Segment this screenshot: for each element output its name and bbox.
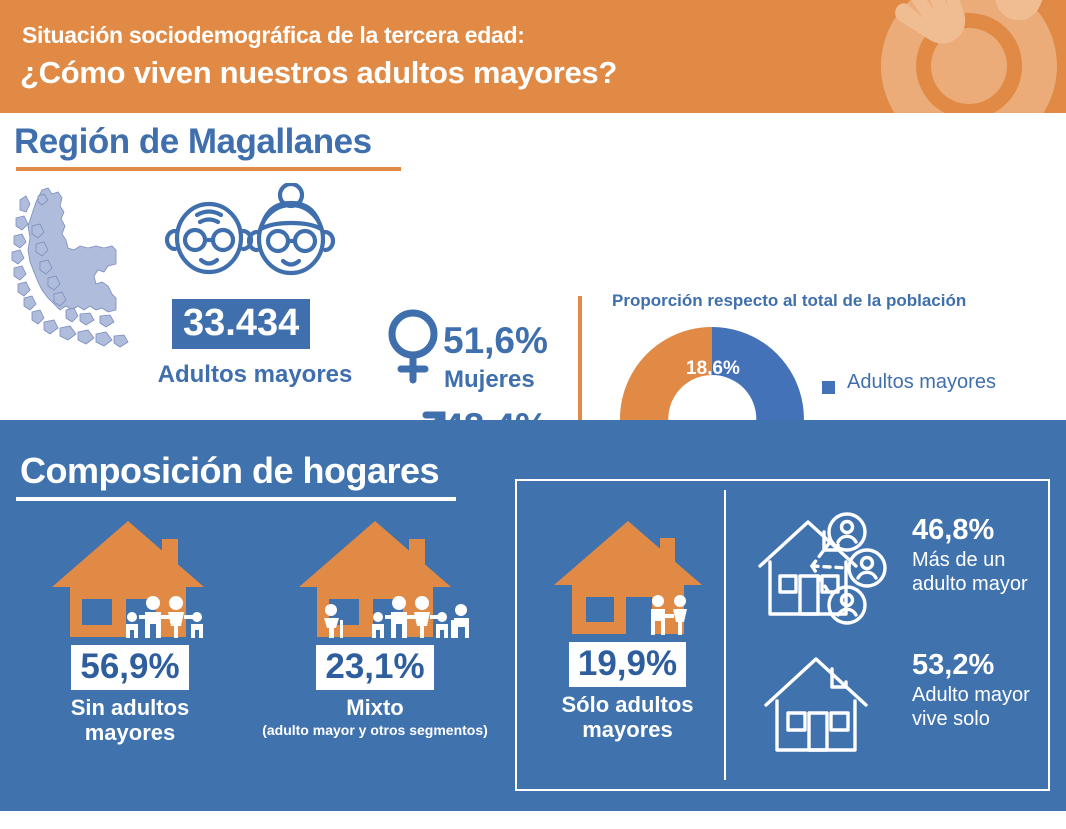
households-title: Composición de hogares [20,450,439,492]
elderly-couple-icon [155,183,345,298]
house-outline-icon [752,645,902,760]
elderly-total-value: 33.434 [172,299,310,349]
region-title: Región de Magallanes [14,122,372,162]
detail-row-mas-de-un: 46,8% Más de unadulto mayor [752,510,1042,630]
households-title-underline [16,497,456,501]
female-label: Mujeres [444,366,535,394]
household-pct-sin-adultos: 56,9% [71,645,188,690]
header-banner: Situación sociodemográfica de la tercera… [0,0,1066,113]
house-elderly-couple-icon [542,515,714,637]
elderly-total-label: Adultos mayores [140,361,370,389]
legend-label-adultos-mayores: Adultos mayores [847,371,996,394]
household-label-solo-adultos: Sólo adultosmayores [530,693,725,742]
house-multiple-elderly-icon [752,510,902,630]
region-section: Región de Magallanes [0,113,1066,420]
donut-chart-title: Proporción respecto al total de la pobla… [612,291,966,311]
household-card-solo-adultos: 19,9% Sólo adultosmayores [530,515,725,742]
house-family-no-elderly-icon [40,515,220,640]
detail-label-mas-de-un: Más de unadulto mayor [912,548,1042,597]
magallanes-region-map-icon [8,186,143,351]
detail-label-vive-solo: Adulto mayorvive solo [912,683,1042,732]
bottom-white-strip [0,811,1066,829]
pie-label-adultos-mayores: 18,6% [686,358,740,380]
detail-pct-mas-de-un: 46,8% [912,516,1042,545]
household-pct-mixto: 23,1% [316,645,433,690]
detail-row-vive-solo: 53,2% Adulto mayorvive solo [752,645,1042,765]
household-pct-solo-adultos: 19,9% [569,642,686,687]
household-sublabel-mixto: (adulto mayor y otros segmentos) [255,722,495,738]
legend-item-adultos-mayores: Adultos mayores [822,371,1062,425]
households-section: Composición de hogares [0,420,1066,811]
hands-circle-logo-icon [854,0,1066,113]
legend-swatch-adultos-mayores [822,381,835,394]
header-title: ¿Cómo viven nuestros adultos mayores? [20,55,617,91]
house-mixed-family-icon [275,515,475,640]
infographic-page: Situación sociodemográfica de la tercera… [0,0,1066,829]
household-card-mixto: 23,1% Mixto (adulto mayor y otros segmen… [255,515,495,738]
detail-pct-vive-solo: 53,2% [912,651,1042,680]
household-label-sin-adultos: Sin adultosmayores [20,696,240,745]
female-percentage: 51,6% [443,320,548,362]
region-title-underline [16,167,401,171]
household-card-sin-adultos: 56,9% Sin adultosmayores [20,515,240,745]
header-subtitle: Situación sociodemográfica de la tercera… [22,22,525,49]
household-label-mixto: Mixto [255,696,495,721]
female-symbol-icon [386,309,440,390]
